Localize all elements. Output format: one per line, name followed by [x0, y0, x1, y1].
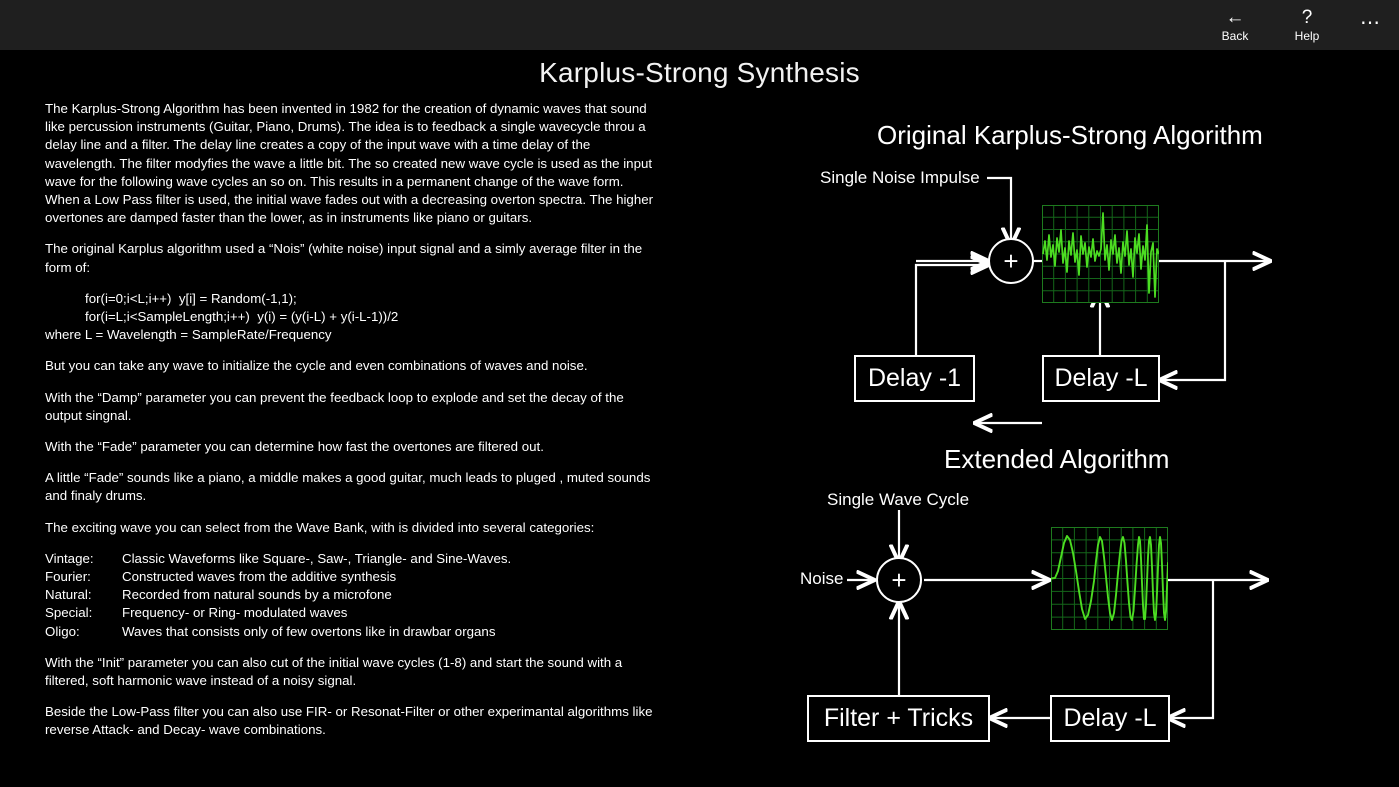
category-name: Fourier: [45, 568, 122, 586]
back-button-label: Back [1222, 29, 1249, 43]
list-item: Vintage: Classic Waveforms like Square-,… [45, 550, 657, 568]
box-delay-1: Delay -1 [854, 355, 975, 402]
list-item: Natural: Recorded from natural sounds by… [45, 586, 657, 604]
category-name: Special: [45, 604, 122, 622]
back-button[interactable]: ← Back [1199, 0, 1271, 50]
help-question-icon: ? [1302, 7, 1313, 27]
wave-bank-category-list: Vintage: Classic Waveforms like Square-,… [45, 550, 657, 641]
diagram-panel: Original Karplus-Strong Algorithm Single… [657, 50, 1399, 787]
box-delay-l-extended: Delay -L [1050, 695, 1170, 742]
diagram-original-input-label: Single Noise Impulse [820, 168, 980, 188]
article-text-column: The Karplus-Strong Algorithm has been in… [45, 100, 657, 753]
help-button-label: Help [1295, 29, 1320, 43]
summing-node-extended: + [876, 557, 922, 603]
scope-sine-sweep-waveform [1051, 527, 1168, 630]
diagram-extended-input-label-top: Single Wave Cycle [827, 490, 969, 510]
app-command-bar: ← Back ? Help ⋯ [0, 0, 1399, 50]
paragraph-any-wave: But you can take any wave to initialize … [45, 357, 657, 375]
paragraph-intro: The Karplus-Strong Algorithm has been in… [45, 100, 657, 227]
category-name: Natural: [45, 586, 122, 604]
diagram-extended-input-label-left: Noise [800, 569, 843, 589]
category-description: Recorded from natural sounds by a microf… [122, 586, 392, 604]
category-description: Frequency- or Ring- modulated waves [122, 604, 347, 622]
diagram-wires [657, 50, 1399, 787]
list-item: Fourier: Constructed waves from the addi… [45, 568, 657, 586]
more-options-icon[interactable]: ⋯ [1343, 0, 1399, 50]
box-filter-tricks: Filter + Tricks [807, 695, 990, 742]
category-description: Waves that consists only of few overtons… [122, 623, 495, 641]
box-delay-l-original: Delay -L [1042, 355, 1160, 402]
category-name: Vintage: [45, 550, 122, 568]
code-block: for(i=0;i<L;i++) y[i] = Random(-1,1); fo… [45, 290, 657, 345]
code-line-2: for(i=L;i<SampleLength;i++) y(i) = (y(i-… [45, 308, 657, 326]
back-arrow-icon: ← [1226, 7, 1245, 27]
category-description: Constructed waves from the additive synt… [122, 568, 396, 586]
code-line-1: for(i=0;i<L;i++) y[i] = Random(-1,1); [45, 290, 657, 308]
code-line-3: where L = Wavelength = SampleRate/Freque… [45, 326, 657, 344]
scope-noise-waveform [1042, 205, 1159, 303]
summing-node-original: + [988, 238, 1034, 284]
paragraph-fade-2: A little “Fade” sounds like a piano, a m… [45, 469, 657, 505]
paragraph-original-algorithm: The original Karplus algorithm used a “N… [45, 240, 657, 276]
paragraph-damp: With the “Damp” parameter you can preven… [45, 389, 657, 425]
list-item: Oligo: Waves that consists only of few o… [45, 623, 657, 641]
paragraph-filters: Beside the Low-Pass filter you can also … [45, 703, 657, 739]
diagram-extended-title: Extended Algorithm [944, 444, 1169, 475]
category-description: Classic Waveforms like Square-, Saw-, Tr… [122, 550, 511, 568]
list-item: Special: Frequency- or Ring- modulated w… [45, 604, 657, 622]
help-button[interactable]: ? Help [1271, 0, 1343, 50]
paragraph-fade-1: With the “Fade” parameter you can determ… [45, 438, 657, 456]
category-name: Oligo: [45, 623, 122, 641]
diagram-original-title: Original Karplus-Strong Algorithm [877, 120, 1263, 151]
paragraph-wave-bank: The exciting wave you can select from th… [45, 519, 657, 537]
paragraph-init: With the “Init” parameter you can also c… [45, 654, 657, 690]
